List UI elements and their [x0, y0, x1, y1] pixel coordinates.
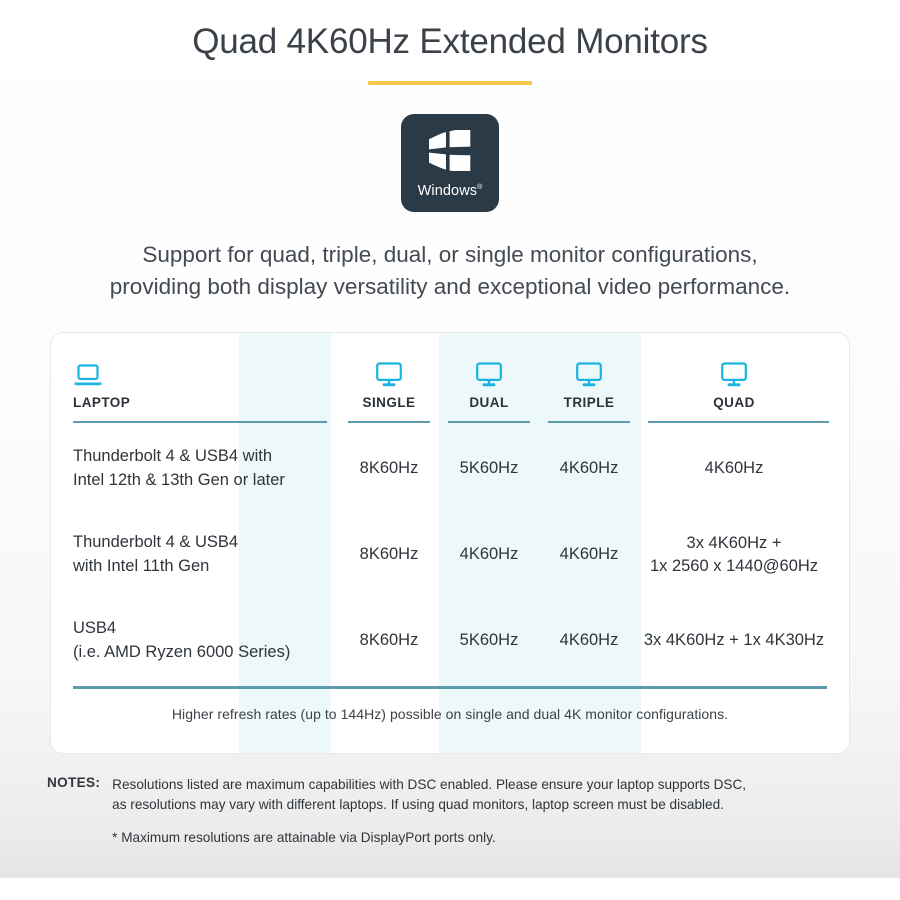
windows-trademark: ®: [477, 184, 482, 191]
monitor-icon: [539, 355, 639, 388]
notes-line-3: * Maximum resolutions are attainable via…: [112, 828, 853, 849]
column-header-rule: [648, 421, 829, 424]
laptop-line-1: Thunderbolt 4 & USB4: [73, 531, 333, 555]
quad-line-1: 3x 4K60Hz + 1x 4K30Hz: [639, 629, 829, 652]
column-header-rule: [548, 421, 630, 424]
infographic-page: Quad 4K60Hz Extended Monitors Windows® S…: [0, 0, 900, 900]
title-block: Quad 4K60Hz Extended Monitors: [0, 0, 900, 85]
page-title: Quad 4K60Hz Extended Monitors: [0, 22, 900, 62]
quad-line-2: 1x 2560 x 1440@60Hz: [639, 555, 829, 578]
cell-quad: 4K60Hz: [639, 426, 829, 512]
cell-single: 8K60Hz: [339, 512, 439, 598]
compatibility-table: LAPTOP SINGLE: [73, 355, 829, 685]
windows-badge: Windows®: [401, 114, 499, 212]
laptop-line-1: Thunderbolt 4 & USB4 with: [73, 445, 333, 469]
column-header-rule: [73, 421, 327, 424]
cell-quad: 3x 4K60Hz + 1x 2560 x 1440@60Hz: [639, 512, 829, 598]
table-header-row: LAPTOP SINGLE: [73, 355, 829, 427]
subtitle: Support for quad, triple, dual, or singl…: [45, 239, 855, 303]
cell-single: 8K60Hz: [339, 598, 439, 684]
cell-dual: 5K60Hz: [439, 426, 539, 512]
column-header-label: DUAL: [439, 395, 539, 410]
notes-label: NOTES:: [47, 775, 112, 790]
cell-triple: 4K60Hz: [539, 512, 639, 598]
quad-line-1: 4K60Hz: [639, 457, 829, 480]
cell-dual: 4K60Hz: [439, 512, 539, 598]
laptop-line-2: with Intel 11th Gen: [73, 555, 333, 579]
notes-body: Resolutions listed are maximum capabilit…: [112, 775, 853, 849]
table-row: USB4 (i.e. AMD Ryzen 6000 Series) 8K60Hz…: [73, 598, 829, 684]
windows-wordmark: Windows®: [418, 183, 483, 199]
monitor-icon: [439, 355, 539, 388]
notes-line-2: as resolutions may vary with different l…: [112, 795, 853, 816]
column-header-laptop: LAPTOP: [73, 355, 339, 427]
column-header-dual: DUAL: [439, 355, 539, 427]
table-head: LAPTOP SINGLE: [73, 355, 829, 427]
column-header-label: TRIPLE: [539, 395, 639, 410]
column-header-triple: TRIPLE: [539, 355, 639, 427]
laptop-icon: [73, 355, 339, 388]
laptop-line-2: Intel 12th & 13th Gen or later: [73, 469, 333, 493]
cell-triple: 4K60Hz: [539, 426, 639, 512]
column-header-rule: [348, 421, 430, 424]
cell-laptop: Thunderbolt 4 & USB4 with Intel 12th & 1…: [73, 426, 339, 512]
cell-dual: 5K60Hz: [439, 598, 539, 684]
cell-triple: 4K60Hz: [539, 598, 639, 684]
card-footnote: Higher refresh rates (up to 144Hz) possi…: [73, 689, 827, 722]
notes-section: NOTES: Resolutions listed are maximum ca…: [47, 775, 853, 849]
windows-badge-wrap: Windows®: [0, 114, 900, 212]
table-row: Thunderbolt 4 & USB4 with Intel 11th Gen…: [73, 512, 829, 598]
column-header-rule: [448, 421, 530, 424]
column-header-label: SINGLE: [339, 395, 439, 410]
subtitle-line-1: Support for quad, triple, dual, or singl…: [45, 239, 855, 271]
cell-single: 8K60Hz: [339, 426, 439, 512]
subtitle-line-2: providing both display versatility and e…: [45, 271, 855, 303]
card-inner: LAPTOP SINGLE: [51, 333, 849, 722]
monitor-icon: [339, 355, 439, 388]
monitor-icon: [639, 355, 829, 388]
title-accent-rule: [368, 81, 532, 85]
laptop-line-1: USB4: [73, 617, 333, 641]
table-body: Thunderbolt 4 & USB4 with Intel 12th & 1…: [73, 426, 829, 684]
windows-logo-icon: [427, 130, 473, 176]
cell-laptop: Thunderbolt 4 & USB4 with Intel 11th Gen: [73, 512, 339, 598]
compatibility-card: LAPTOP SINGLE: [50, 332, 850, 754]
cell-laptop: USB4 (i.e. AMD Ryzen 6000 Series): [73, 598, 339, 684]
table-row: Thunderbolt 4 & USB4 with Intel 12th & 1…: [73, 426, 829, 512]
notes-line-1: Resolutions listed are maximum capabilit…: [112, 775, 853, 796]
column-header-label: LAPTOP: [73, 395, 339, 410]
column-header-label: QUAD: [639, 395, 829, 410]
quad-line-1: 3x 4K60Hz +: [639, 532, 829, 555]
column-header-single: SINGLE: [339, 355, 439, 427]
cell-quad: 3x 4K60Hz + 1x 4K30Hz: [639, 598, 829, 684]
column-header-quad: QUAD: [639, 355, 829, 427]
laptop-line-2: (i.e. AMD Ryzen 6000 Series): [73, 641, 333, 665]
